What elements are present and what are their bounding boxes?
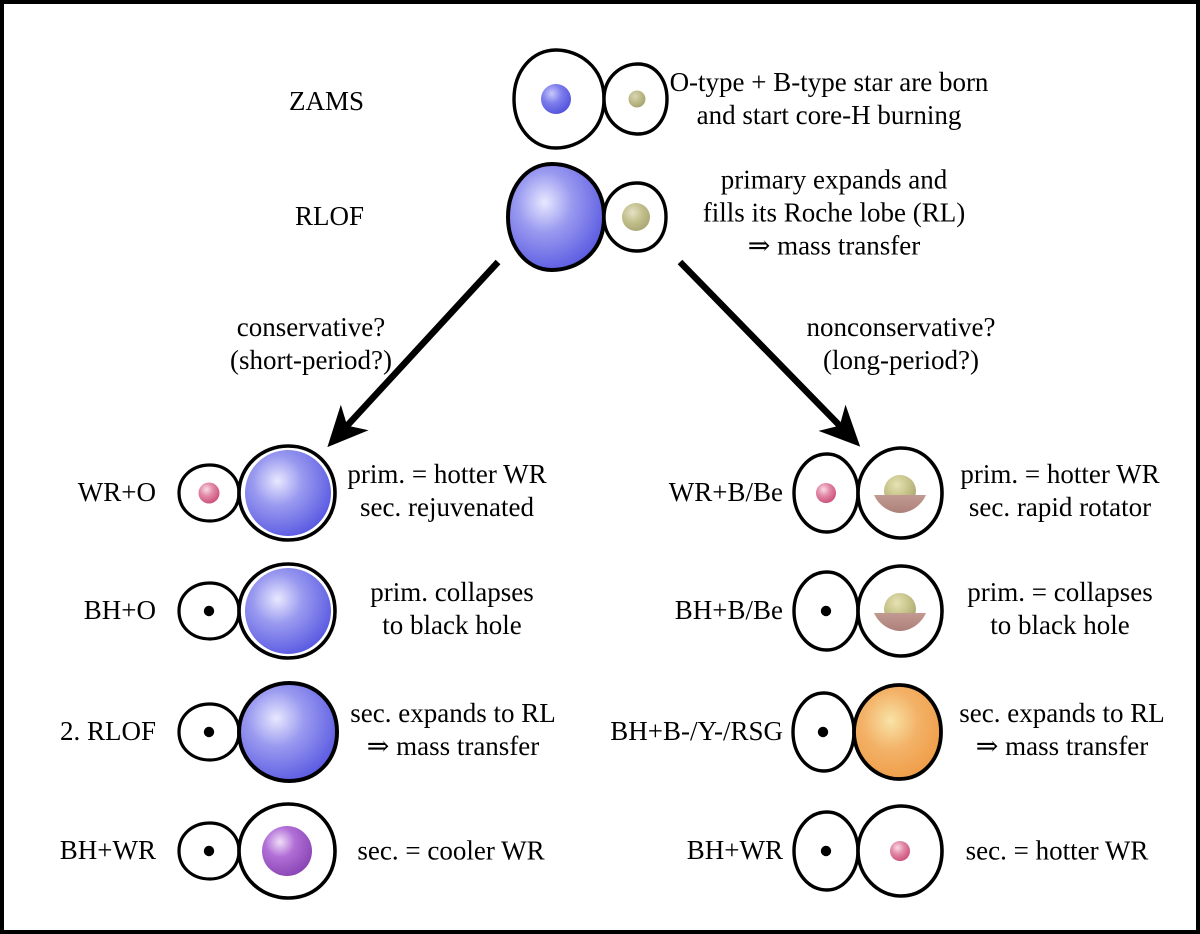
binary-system-bh-b-be <box>786 558 946 664</box>
hotter-wr-star-icon <box>890 841 910 861</box>
nonconservative-line-2: (long-period?) <box>807 344 996 377</box>
bh-o-desc-line-2: to black hole <box>370 609 533 642</box>
cooler-wr-star-icon <box>262 826 312 876</box>
black-hole-icon <box>204 846 214 856</box>
binary-system-bh-wr-right <box>786 798 946 904</box>
stage-label-second-rlof: 2. RLOF <box>60 716 156 748</box>
stage-label-bh-b-be: BH+B/Be <box>675 595 783 627</box>
wr-b-be-desc-line-2: sec. rapid rotator <box>960 491 1159 524</box>
bh-b-y-rsg-desc-line-2: ⇒ mass transfer <box>959 730 1164 763</box>
bh-wr-right-label-text: BH+WR <box>687 835 783 867</box>
wr-o-description: prim. = hotter WR sec. rejuvenated <box>347 458 546 524</box>
hotter-wr-star-icon <box>199 483 220 504</box>
stage-label-bh-wr-left: BH+WR <box>60 835 156 867</box>
binary-system-bh-b-y-rsg <box>786 679 946 785</box>
bh-wr-left-label-text: BH+WR <box>60 835 156 867</box>
black-hole-icon <box>204 606 214 616</box>
binary-system-wr-b-be <box>786 440 946 546</box>
o-type-star-icon <box>245 568 331 654</box>
bh-wr-left-desc-line-1: sec. = cooler WR <box>357 835 544 868</box>
bh-o-label-text: BH+O <box>84 595 156 627</box>
bh-o-description: prim. collapses to black hole <box>370 576 533 642</box>
secondary-filling-roche-lobe <box>854 685 941 779</box>
bh-o-desc-line-1: prim. collapses <box>370 576 533 609</box>
black-hole-icon <box>821 606 831 616</box>
branch-label-nonconservative: nonconservative? (long-period?) <box>807 311 996 377</box>
wr-b-be-description: prim. = hotter WR sec. rapid rotator <box>960 458 1159 524</box>
bh-b-be-desc-line-1: prim. = collapses <box>967 576 1152 609</box>
bh-b-be-description: prim. = collapses to black hole <box>967 576 1152 642</box>
bh-b-be-desc-line-2: to black hole <box>967 609 1152 642</box>
bh-wr-right-desc-line-1: sec. = hotter WR <box>966 835 1149 868</box>
second-rlof-desc-line-1: sec. expands to RL <box>350 697 555 730</box>
black-hole-icon <box>818 727 828 737</box>
bh-wr-left-description: sec. = cooler WR <box>357 835 544 868</box>
bh-b-y-rsg-description: sec. expands to RL ⇒ mass transfer <box>959 697 1164 763</box>
binary-system-second-rlof <box>165 679 345 785</box>
conservative-line-1: conservative? <box>230 311 392 344</box>
secondary-filling-roche-lobe <box>239 683 337 781</box>
wr-b-be-roche-geometry <box>786 440 946 546</box>
binary-system-bh-wr-left <box>165 798 345 904</box>
wr-o-desc-line-2: sec. rejuvenated <box>347 491 546 524</box>
hotter-wr-star-icon <box>816 483 836 503</box>
stage-label-bh-wr-right: BH+WR <box>687 835 783 867</box>
stage-label-bh-o: BH+O <box>84 595 156 627</box>
bh-wr-right-roche-geometry <box>786 798 946 904</box>
wr-o-roche-geometry <box>165 440 345 546</box>
wr-b-be-label-text: WR+B/Be <box>669 477 783 509</box>
branch-label-conservative: conservative? (short-period?) <box>230 311 392 377</box>
stage-label-wr-b-be: WR+B/Be <box>669 477 783 509</box>
bh-b-be-label-text: BH+B/Be <box>675 595 783 627</box>
second-rlof-desc-line-2: ⇒ mass transfer <box>350 730 555 763</box>
wr-o-desc-line-1: prim. = hotter WR <box>347 458 546 491</box>
black-hole-icon <box>821 846 831 856</box>
bh-b-be-roche-geometry <box>786 558 946 664</box>
bh-b-y-rsg-label-text: BH+B-/Y-/RSG <box>610 716 783 748</box>
bh-wr-left-roche-geometry <box>165 798 345 904</box>
second-rlof-roche-geometry <box>165 679 345 785</box>
wr-o-label-text: WR+O <box>78 477 156 509</box>
bh-b-y-rsg-desc-line-1: sec. expands to RL <box>959 697 1164 730</box>
second-rlof-description: sec. expands to RL ⇒ mass transfer <box>350 697 555 763</box>
wr-b-be-desc-line-1: prim. = hotter WR <box>960 458 1159 491</box>
bh-wr-right-description: sec. = hotter WR <box>966 835 1149 868</box>
binary-system-bh-o <box>165 558 345 664</box>
bh-b-y-rsg-roche-geometry <box>786 679 946 785</box>
binary-evolution-diagram: ZAMS O-type + B-type star are born and s… <box>0 0 1200 934</box>
stage-label-bh-b-y-rsg: BH+B-/Y-/RSG <box>610 716 783 748</box>
stage-label-wr-o: WR+O <box>78 477 156 509</box>
bh-o-roche-geometry <box>165 558 345 664</box>
binary-system-wr-o <box>165 440 345 546</box>
black-hole-icon <box>204 727 214 737</box>
second-rlof-label-text: 2. RLOF <box>60 716 156 748</box>
o-type-star-icon <box>245 450 331 536</box>
conservative-line-2: (short-period?) <box>230 344 392 377</box>
nonconservative-line-1: nonconservative? <box>807 311 996 344</box>
